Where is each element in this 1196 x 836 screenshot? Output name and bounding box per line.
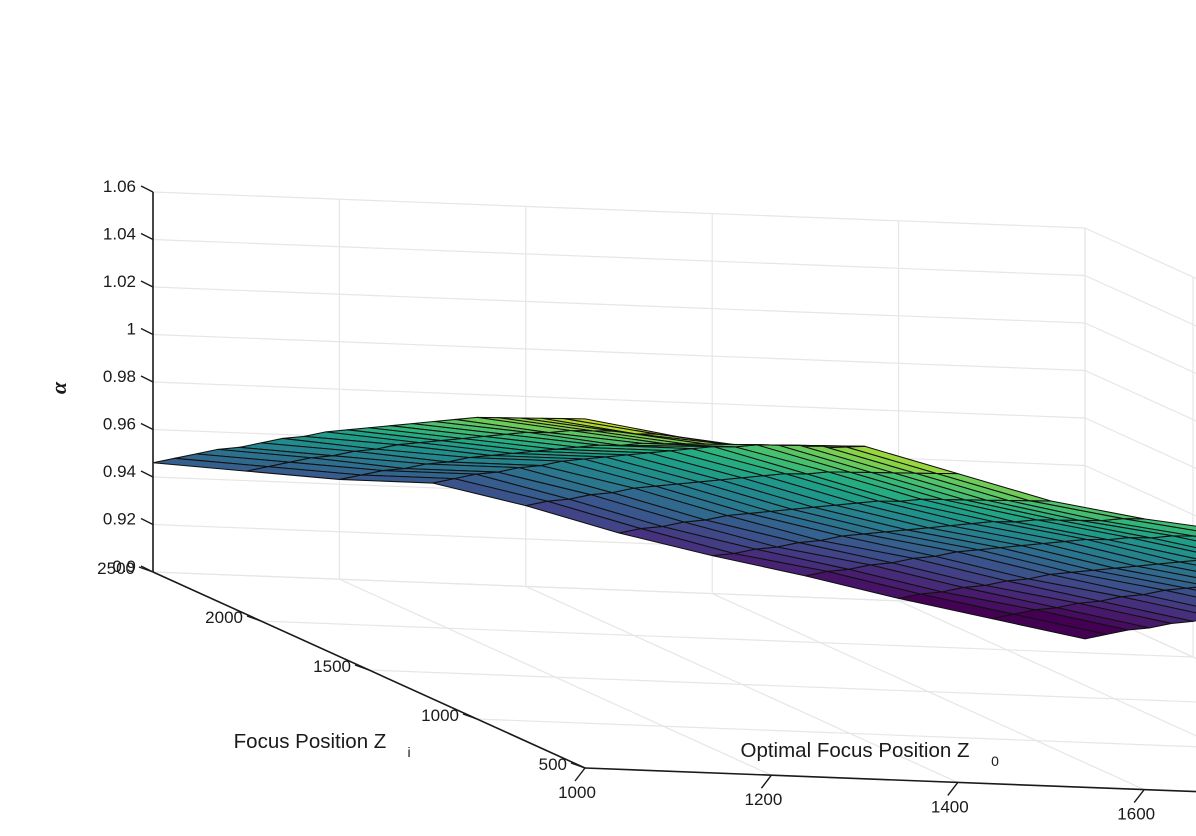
axis-title: Focus Position Z	[234, 730, 387, 753]
axis-tick-label: 2000	[205, 608, 243, 627]
axis-title: α	[46, 381, 71, 394]
axis-tick-label: 0.92	[103, 510, 136, 529]
axis-tick-label: 1.02	[103, 272, 136, 291]
axis-tick-label: 1400	[931, 797, 969, 816]
axis-title: 0	[991, 753, 999, 769]
axis-tick-label: 2500	[97, 559, 135, 578]
axis-tick-label: 0.96	[103, 415, 136, 434]
plot-canvas: 0.90.920.940.960.9811.021.041.0650010001…	[0, 0, 1196, 836]
axis-title: Optimal Focus Position Z	[741, 739, 970, 762]
axis-title: i	[407, 744, 410, 760]
axis-tick-label: 1000	[421, 706, 459, 725]
axis-tick-label: 1	[127, 320, 136, 339]
axis-tick-label: 0.94	[103, 462, 136, 481]
axis-tick-label: 1.06	[103, 177, 136, 196]
axis-tick-label: 1600	[1117, 805, 1155, 824]
axis-tick-label: 1200	[744, 790, 782, 809]
surface-mesh	[153, 417, 1196, 639]
axis-tick-label: 1000	[558, 783, 596, 802]
axis-tick-label: 1.04	[103, 225, 136, 244]
surface-plot-figure: 0.90.920.940.960.9811.021.041.0650010001…	[0, 0, 1196, 836]
axis-tick-label: 1500	[313, 657, 351, 676]
axis-tick-label: 500	[539, 755, 567, 774]
axis-tick-label: 0.98	[103, 367, 136, 386]
